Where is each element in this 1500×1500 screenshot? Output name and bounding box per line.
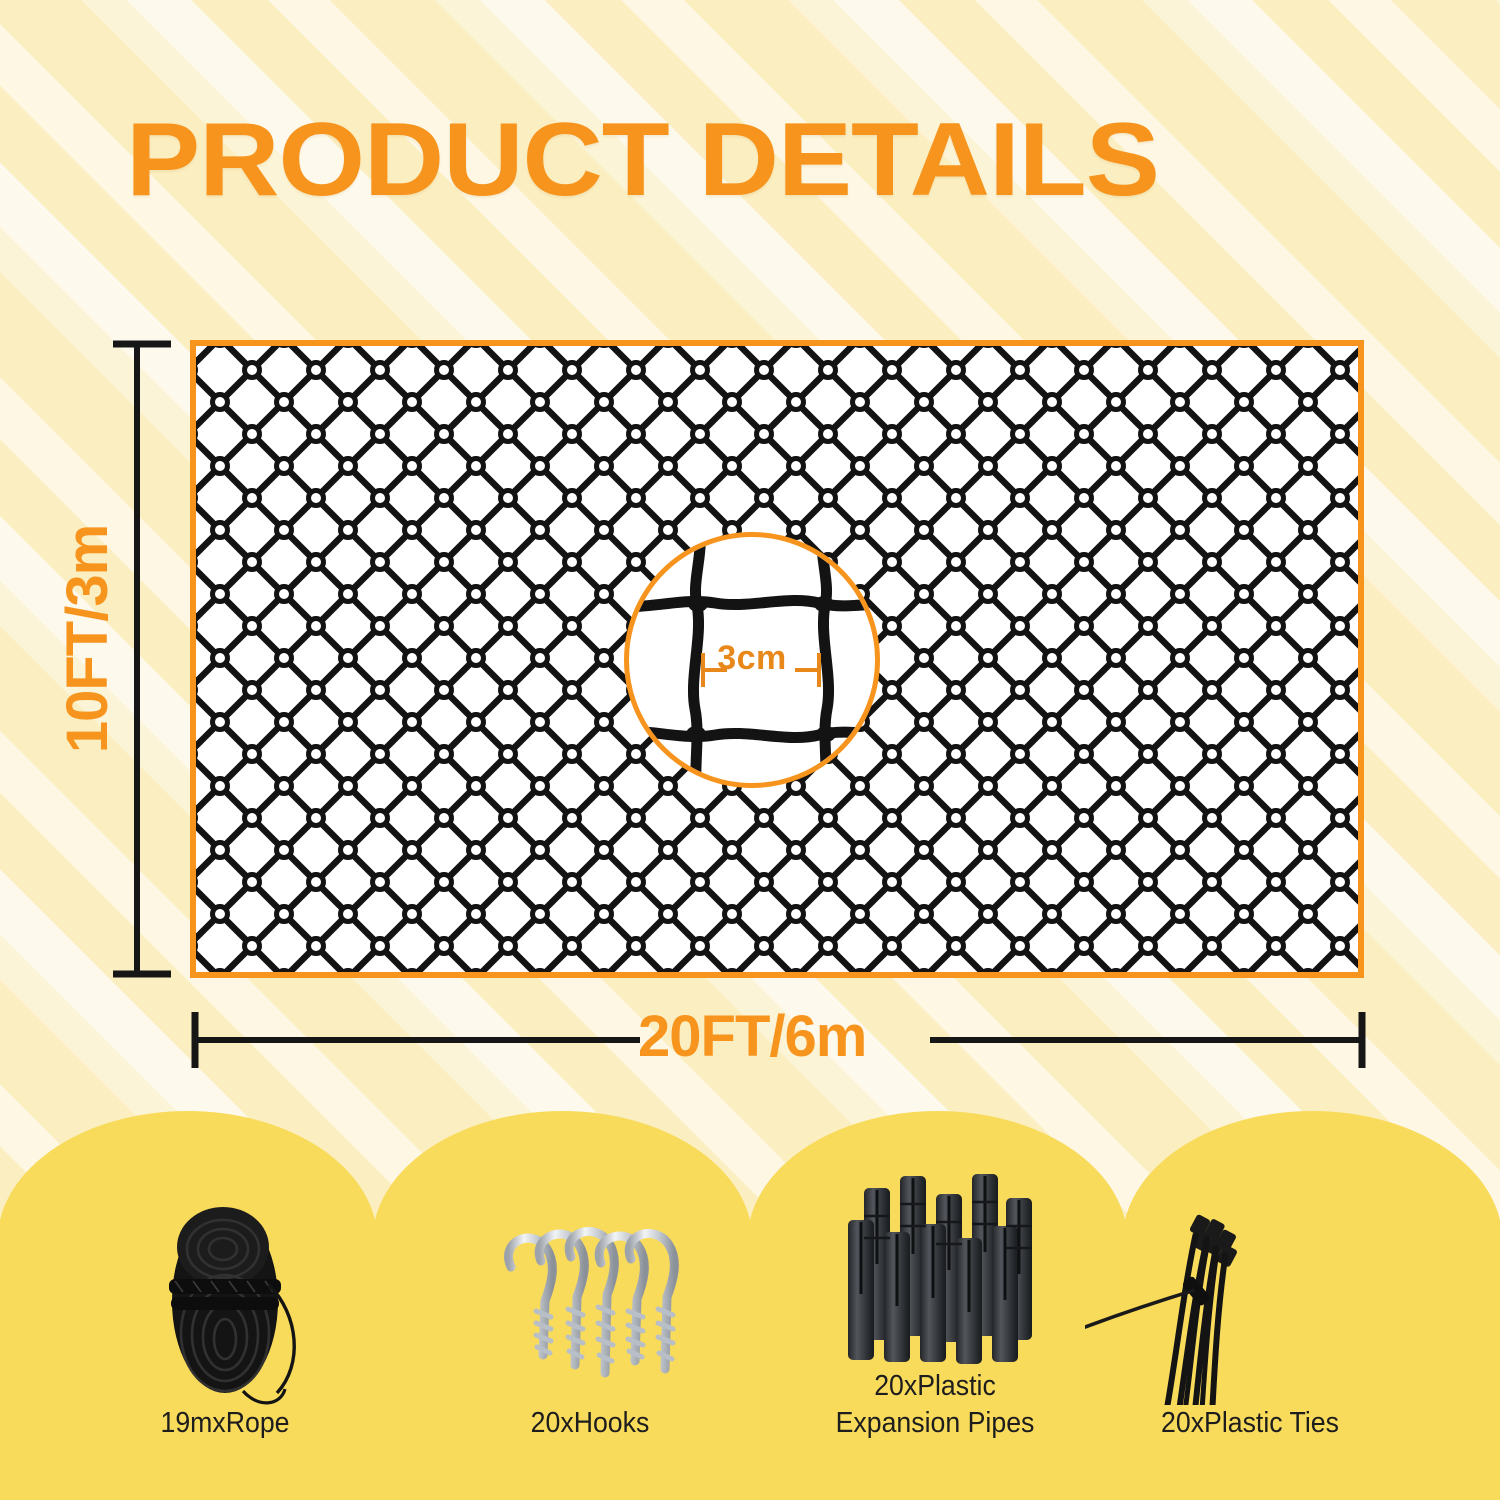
accessories-row: 19mxRope	[0, 1080, 1500, 1500]
accessory-item-hooks: 20xHooks	[425, 1205, 755, 1442]
accessory-label: 20xHooks	[438, 1405, 742, 1442]
accessory-label: 19mxRope	[73, 1405, 377, 1442]
accessory-label: 20xPlastic Ties	[1098, 1405, 1402, 1442]
accessory-label-line2: Expansion Pipes	[783, 1405, 1087, 1442]
page-title: PRODUCT DETAILS	[126, 108, 1474, 212]
rope-coil-icon	[60, 1205, 390, 1405]
mesh-magnifier-circle: 3cm	[624, 532, 880, 788]
mesh-size-label: 3cm	[629, 641, 875, 675]
accessory-item-ties: 20xPlastic Ties	[1085, 1205, 1415, 1442]
dimension-label-height: 10FT/3m	[59, 489, 117, 789]
screw-hook-icon	[425, 1205, 755, 1405]
accessory-item-rope: 19mxRope	[60, 1205, 390, 1442]
zip-tie-icon	[1085, 1205, 1415, 1405]
wall-anchor-icon	[770, 1168, 1100, 1368]
accessory-item-expansion-pipes: 20xPlastic Expansion Pipes	[770, 1168, 1100, 1442]
dimension-label-width: 20FT/6m	[638, 1008, 866, 1066]
accessory-label-line1: 20xPlastic	[783, 1368, 1087, 1405]
